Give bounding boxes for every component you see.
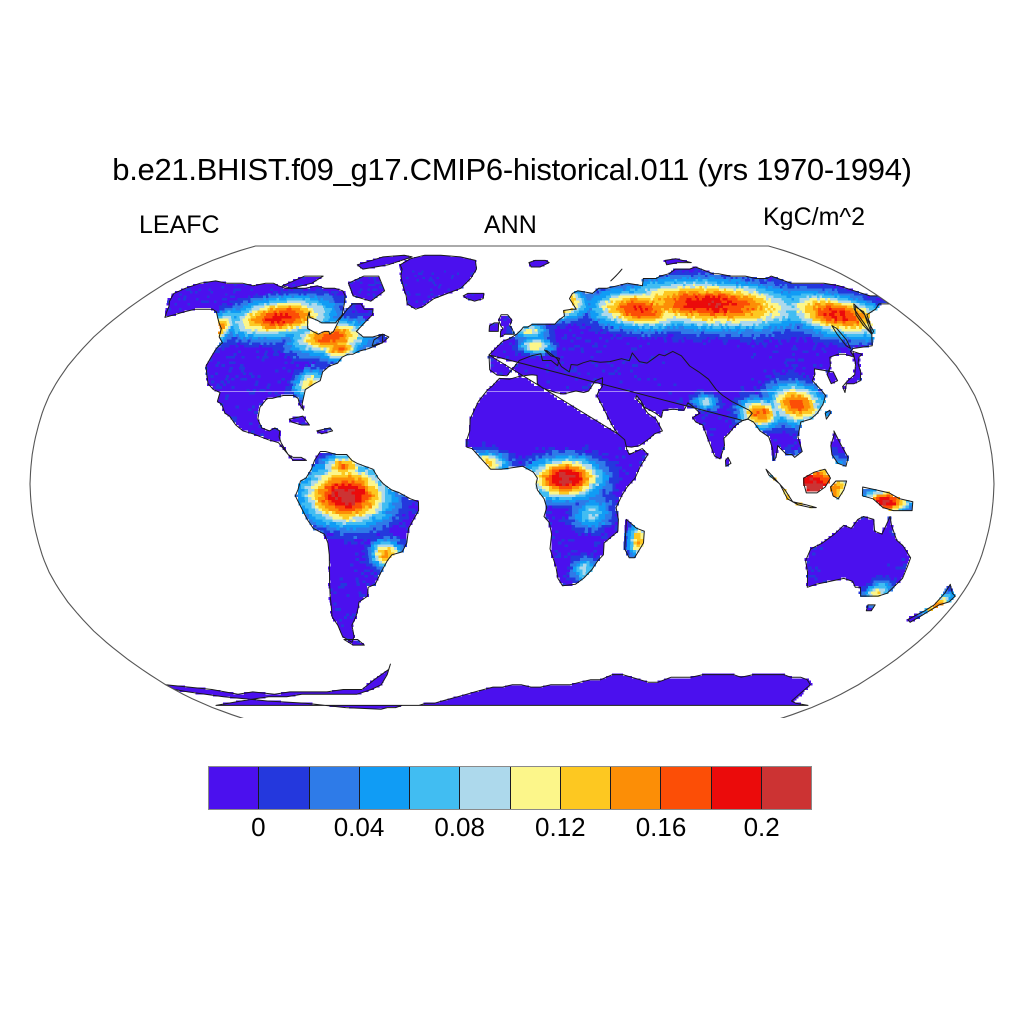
- data-raster-layer: [165, 255, 955, 708]
- colorbar-segment[interactable]: [661, 767, 711, 809]
- colorbar-segment[interactable]: [762, 767, 811, 809]
- map-canvas: [28, 238, 996, 718]
- colorbar-swatches[interactable]: [208, 766, 812, 810]
- colorbar-segment[interactable]: [410, 767, 460, 809]
- colorbar-segment[interactable]: [209, 767, 259, 809]
- colorbar-tick-label: 0.04: [334, 812, 385, 843]
- colorbar-segment[interactable]: [310, 767, 360, 809]
- colorbar-segment[interactable]: [259, 767, 309, 809]
- colorbar-segment[interactable]: [712, 767, 762, 809]
- colorbar-tick-label: 0.08: [434, 812, 485, 843]
- variable-label: LEAFC: [139, 211, 220, 240]
- colorbar-segment[interactable]: [611, 767, 661, 809]
- units-label: KgC/m^2: [763, 203, 865, 232]
- colorbar-segment[interactable]: [511, 767, 561, 809]
- page-title: b.e21.BHIST.f09_g17.CMIP6-historical.011…: [0, 152, 1024, 188]
- coastline-novaya: [611, 269, 622, 281]
- world-map: [28, 238, 996, 718]
- colorbar-segment[interactable]: [460, 767, 510, 809]
- season-label: ANN: [484, 211, 537, 240]
- colorbar-segment[interactable]: [360, 767, 410, 809]
- colorbar-tick-label: 0.16: [636, 812, 687, 843]
- colorbar-ticklabels: 00.040.080.120.160.2: [208, 812, 812, 852]
- colorbar-tick-label: 0: [251, 812, 265, 843]
- colorbar-tick-label: 0.2: [744, 812, 780, 843]
- colorbar-tick-label: 0.12: [535, 812, 586, 843]
- colorbar[interactable]: [208, 766, 812, 810]
- climate-map-figure: b.e21.BHIST.f09_g17.CMIP6-historical.011…: [0, 0, 1024, 1024]
- colorbar-segment[interactable]: [561, 767, 611, 809]
